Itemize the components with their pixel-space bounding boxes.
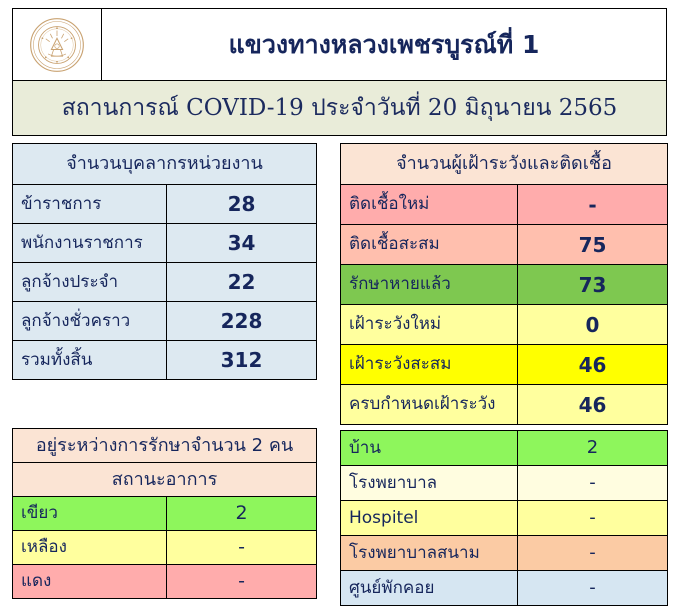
location-row-value: 2 [518,431,668,466]
surveillance-row-value: 73 [518,265,668,305]
treatment-row-label: แดง [13,565,167,599]
table-header-row: อยู่ระหว่างการรักษาจำนวน 2 คน [13,429,317,463]
table-row: ศูนย์พักคอย - [341,571,668,606]
treatment-table-header: อยู่ระหว่างการรักษาจำนวน 2 คน [13,429,317,463]
logo-cell [13,9,102,80]
staff-table-header: จำนวนบุคลากรหน่วยงาน [13,144,317,185]
table-row: รักษาหายแล้ว 73 [341,265,668,305]
table-subheader-row: สถานะอาการ [13,463,317,497]
table-header-row: จำนวนบุคลากรหน่วยงาน [13,144,317,185]
table-row: พนักงานราชการ 34 [13,224,317,263]
page-title: แขวงทางหลวงเพชรบูรณ์ที่ 1 [229,31,540,59]
staff-row-value: 28 [167,185,317,224]
location-row-label: โรงพยาบาลสนาม [341,536,518,571]
treatment-location-table: บ้าน 2 โรงพยาบาล - Hospitel - โรงพยาบาลส… [340,430,668,606]
location-row-label: ศูนย์พักคอย [341,571,518,606]
table-row: รวมทั้งสิ้น 312 [13,341,317,380]
location-row-value: - [518,536,668,571]
location-row-label: Hospitel [341,501,518,536]
table-row: เฝ้าระวังใหม่ 0 [341,305,668,345]
surveillance-row-label: รักษาหายแล้ว [341,265,518,305]
staff-row-label: ลูกจ้างประจำ [13,263,167,302]
table-row: ข้าราชการ 28 [13,185,317,224]
location-row-label: บ้าน [341,431,518,466]
table-row: เฝ้าระวังสะสม 46 [341,345,668,385]
report-subtitle: สถานการณ์ COVID-19 ประจำวันที่ 20 มิถุนา… [62,90,618,126]
staff-row-label: พนักงานราชการ [13,224,167,263]
location-row-value: - [518,466,668,501]
treatment-row-value: - [167,565,317,599]
staff-row-label: ข้าราชการ [13,185,167,224]
surveillance-infection-table: จำนวนผู้เฝ้าระวังและติดเชื้อ ติดเชื้อใหม… [340,143,668,425]
table-row: แดง - [13,565,317,599]
table-header-row: จำนวนผู้เฝ้าระวังและติดเชื้อ [341,144,668,185]
location-row-value: - [518,501,668,536]
header-title-cell: แขวงทางหลวงเพชรบูรณ์ที่ 1 [102,9,666,80]
table-row: ติดเชื้อสะสม 75 [341,225,668,265]
staff-count-table: จำนวนบุคลากรหน่วยงาน ข้าราชการ 28 พนักงา… [12,143,317,380]
highway-department-seal-icon [29,17,85,73]
treatment-row-label: เหลือง [13,531,167,565]
surveillance-row-value: - [518,185,668,225]
report-header: แขวงทางหลวงเพชรบูรณ์ที่ 1 สถานการณ์ COVI… [12,8,667,136]
staff-row-label: รวมทั้งสิ้น [13,341,167,380]
table-row: ลูกจ้างชั่วคราว 228 [13,302,317,341]
table-row: ลูกจ้างประจำ 22 [13,263,317,302]
surveillance-table-header: จำนวนผู้เฝ้าระวังและติดเชื้อ [341,144,668,185]
surveillance-row-value: 75 [518,225,668,265]
surveillance-row-label: ครบกำหนดเฝ้าระวัง [341,385,518,425]
surveillance-row-value: 0 [518,305,668,345]
surveillance-row-value: 46 [518,385,668,425]
treatment-row-label: เขียว [13,497,167,531]
surveillance-row-label: ติดเชื้อสะสม [341,225,518,265]
surveillance-row-label: ติดเชื้อใหม่ [341,185,518,225]
table-row: ครบกำหนดเฝ้าระวัง 46 [341,385,668,425]
table-row: โรงพยาบาลสนาม - [341,536,668,571]
table-row: Hospitel - [341,501,668,536]
staff-row-value: 228 [167,302,317,341]
staff-row-value: 34 [167,224,317,263]
table-row: โรงพยาบาล - [341,466,668,501]
location-row-value: - [518,571,668,606]
surveillance-row-value: 46 [518,345,668,385]
table-row: บ้าน 2 [341,431,668,466]
header-subtitle-row: สถานการณ์ COVID-19 ประจำวันที่ 20 มิถุนา… [13,81,666,135]
header-title-row: แขวงทางหลวงเพชรบูรณ์ที่ 1 [13,9,666,81]
treatment-row-value: 2 [167,497,317,531]
treatment-table-subheader: สถานะอาการ [13,463,317,497]
table-row: เขียว 2 [13,497,317,531]
dashboard-page: แขวงทางหลวงเพชรบูรณ์ที่ 1 สถานการณ์ COVI… [0,0,681,612]
treatment-row-value: - [167,531,317,565]
surveillance-row-label: เฝ้าระวังสะสม [341,345,518,385]
surveillance-row-label: เฝ้าระวังใหม่ [341,305,518,345]
staff-row-label: ลูกจ้างชั่วคราว [13,302,167,341]
table-row: เหลือง - [13,531,317,565]
staff-row-value: 22 [167,263,317,302]
location-row-label: โรงพยาบาล [341,466,518,501]
table-row: ติดเชื้อใหม่ - [341,185,668,225]
under-treatment-table: อยู่ระหว่างการรักษาจำนวน 2 คน สถานะอาการ… [12,428,317,599]
staff-row-value: 312 [167,341,317,380]
